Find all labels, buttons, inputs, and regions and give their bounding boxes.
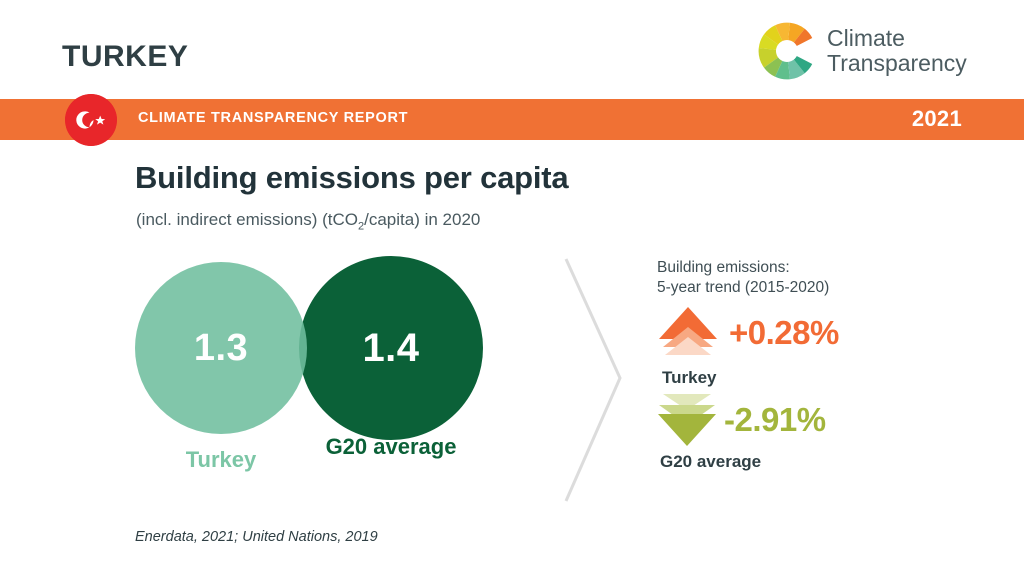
brand-logo-line2: Transparency [827, 51, 967, 76]
bubble-turkey-label: Turkey [135, 447, 307, 473]
bubble-g20-value: 1.4 [362, 326, 419, 371]
chevron-right-icon [560, 255, 630, 510]
bubble-turkey-value: 1.3 [194, 327, 248, 370]
trend-heading-line1: Building emissions: [657, 258, 829, 278]
climate-transparency-wheel-icon [758, 22, 816, 80]
source-note: Enerdata, 2021; United Nations, 2019 [135, 529, 378, 545]
bubble-g20-average: 1.4 [299, 256, 483, 440]
trend-label-g20: G20 average [660, 452, 761, 472]
trend-value-turkey: +0.28% [729, 314, 839, 352]
infographic-page: TURKEY C [0, 0, 1024, 576]
trend-heading-line2: 5-year trend (2015-2020) [657, 278, 829, 298]
trend-row-g20: -2.91% [650, 392, 826, 448]
brand-logo: Climate Transparency [758, 22, 967, 80]
arrow-down-stacked-icon [650, 392, 722, 448]
trend-heading: Building emissions: 5-year trend (2015-2… [657, 258, 829, 298]
bubble-turkey: 1.3 [135, 262, 307, 434]
trend-value-g20: -2.91% [724, 401, 826, 439]
brand-logo-text: Climate Transparency [827, 26, 967, 76]
bubble-chart: 1.4 1.3 Turkey G20 average [0, 0, 560, 500]
arrow-up-stacked-icon [655, 307, 721, 359]
trend-label-turkey: Turkey [662, 368, 717, 388]
trend-row-turkey: +0.28% [655, 307, 839, 359]
brand-logo-line1: Climate [827, 26, 967, 51]
report-year: 2021 [912, 106, 962, 132]
